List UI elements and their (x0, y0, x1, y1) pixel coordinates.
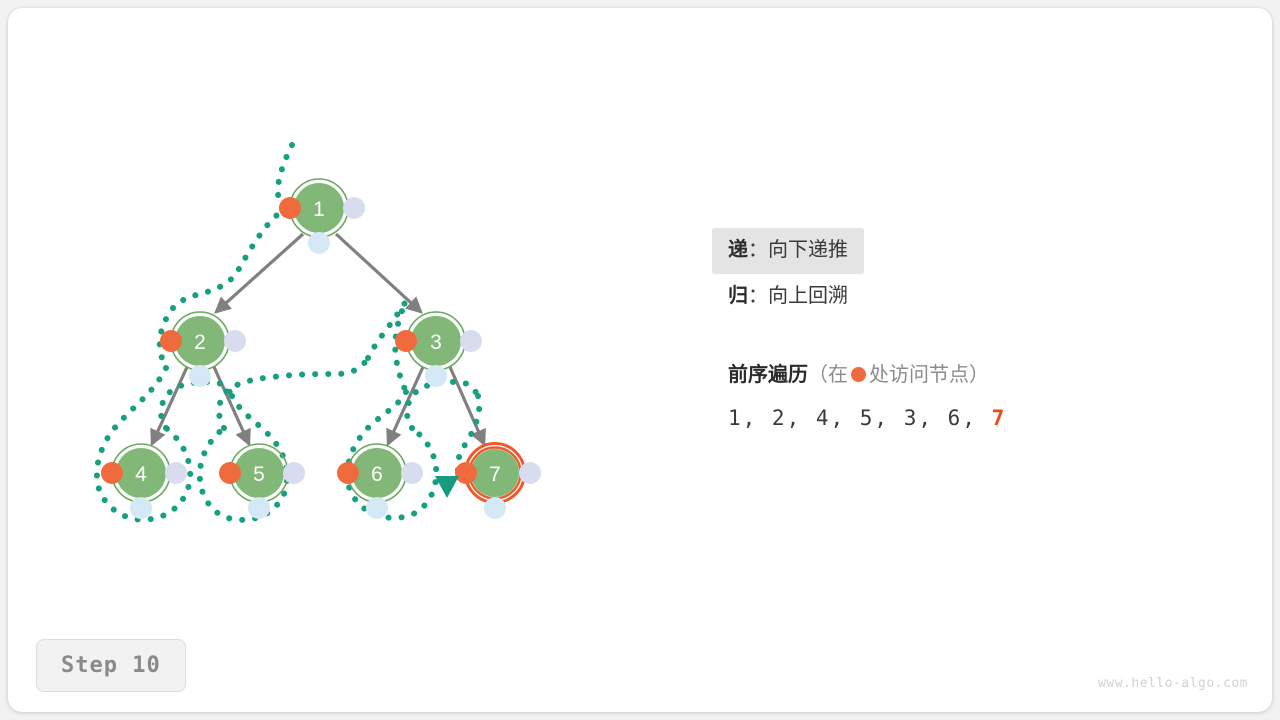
legend-descend-text: ：向下递推 (748, 239, 848, 261)
tree-node-5[interactable]: 5 (219, 444, 305, 519)
node-7-right-dot (519, 462, 541, 484)
visit-marker-dot-icon (851, 367, 866, 382)
edge-1-2 (216, 234, 303, 312)
node-1-label: 1 (313, 198, 325, 221)
node-5-label: 5 (253, 463, 265, 486)
traversal-sequence-current: 7 (992, 406, 1007, 430)
site-watermark: www.hello-algo.com (1098, 676, 1248, 691)
traversal-sequence-visited: 1, 2, 4, 5, 3, 6, (728, 406, 977, 430)
tree-node-6[interactable]: 6 (337, 444, 423, 519)
node-6-right-dot (401, 462, 423, 484)
legend-backtrack-keyword: 归 (728, 285, 748, 307)
node-2-right-dot (224, 330, 246, 352)
node-1-right-dot (343, 197, 365, 219)
tree-node-7[interactable]: 7 (455, 444, 541, 520)
node-1-bottom-dot (308, 232, 330, 254)
node-6-label: 6 (371, 463, 383, 486)
traversal-order-title: 前序遍历（在处访问节点） (728, 360, 1198, 390)
traversal-note-right: 处访问节点） (869, 364, 989, 386)
edge-1-3 (336, 234, 421, 312)
node-7-visit-dot (455, 462, 477, 484)
node-1-visit-dot (279, 197, 301, 219)
node-7-label: 7 (489, 463, 501, 486)
traversal-note-left: （在 (808, 364, 848, 386)
legend-line-backtrack: 归：向上回溯 (712, 274, 1168, 320)
node-5-right-dot (283, 462, 305, 484)
node-7-bottom-dot (484, 497, 506, 519)
legend-descend-keyword: 递 (728, 239, 748, 261)
edge-3-7 (450, 367, 484, 444)
recursion-legend: 递：向下递推 归：向上回溯 (728, 228, 1168, 320)
node-4-right-dot (165, 462, 187, 484)
traversal-sequence: 1, 2, 4, 5, 3, 6, 7 (728, 406, 1198, 430)
screenshot-canvas: 1 2 3 4 (0, 0, 1280, 720)
trace-segment-node5-up-to-root-right (219, 358, 368, 428)
node-3-visit-dot (395, 330, 417, 352)
node-2-visit-dot (160, 330, 182, 352)
node-4-bottom-dot (130, 497, 152, 519)
node-4-label: 4 (135, 463, 147, 486)
node-4-visit-dot (101, 462, 123, 484)
tree-node-2[interactable]: 2 (160, 312, 246, 387)
legend-backtrack-text: ：向上回溯 (748, 285, 848, 307)
node-6-bottom-dot (366, 497, 388, 519)
node-5-bottom-dot (248, 497, 270, 519)
node-2-label: 2 (194, 331, 206, 354)
traversal-type-label: 前序遍历 (728, 364, 808, 386)
current-position-triangle-icon (435, 476, 459, 498)
node-6-visit-dot (337, 462, 359, 484)
tree-node-3[interactable]: 3 (395, 312, 482, 387)
node-3-right-dot (460, 330, 482, 352)
legend-line-descend: 递：向下递推 (712, 228, 864, 274)
node-3-bottom-dot (425, 365, 447, 387)
step-badge: Step 10 (36, 639, 186, 692)
traversal-order-block: 前序遍历（在处访问节点） 1, 2, 4, 5, 3, 6, 7 (728, 360, 1198, 430)
node-3-label: 3 (430, 331, 442, 354)
node-5-visit-dot (219, 462, 241, 484)
node-2-bottom-dot (189, 365, 211, 387)
